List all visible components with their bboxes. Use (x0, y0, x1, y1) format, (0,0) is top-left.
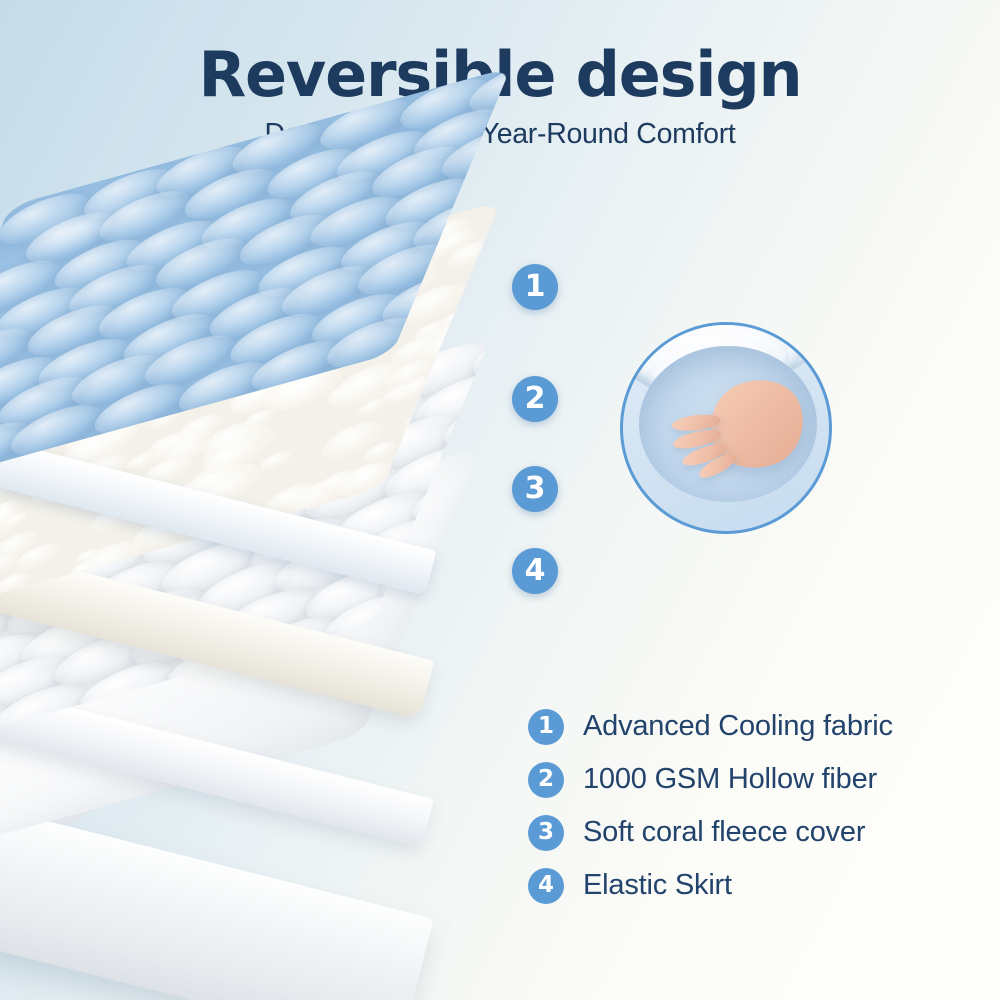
callout-badge-1: 1 (512, 264, 558, 310)
legend-label-3: Soft coral fleece cover (583, 818, 865, 847)
layer-1-cooling-fabric (0, 180, 580, 510)
header: Reversible design Double-Sided for Year-… (0, 44, 1000, 149)
legend-label-2: 1000 GSM Hollow fiber (583, 765, 877, 794)
legend-badge-1: 1 (528, 709, 564, 745)
legend-badge-3: 3 (528, 815, 564, 851)
legend-item-3: 3 Soft coral fleece cover (528, 806, 978, 859)
hand-pressing-topper-photo (620, 322, 832, 534)
legend-item-1: 1 Advanced Cooling fabric (528, 700, 978, 753)
legend-badge-2: 2 (528, 762, 564, 798)
legend-label-1: Advanced Cooling fabric (583, 712, 893, 741)
product-infographic: Reversible design Double-Sided for Year-… (0, 0, 1000, 1000)
legend-item-2: 2 1000 GSM Hollow fiber (528, 753, 978, 806)
callout-badge-3: 3 (512, 466, 558, 512)
legend-label-4: Elastic Skirt (583, 871, 732, 900)
callout-badge-4: 4 (512, 548, 558, 594)
legend-item-4: 4 Elastic Skirt (528, 859, 978, 912)
page-subtitle: Double-Sided for Year-Round Comfort (0, 120, 1000, 149)
legend-badge-4: 4 (528, 868, 564, 904)
legend: 1 Advanced Cooling fabric 2 1000 GSM Hol… (528, 700, 978, 912)
callout-badge-2: 2 (512, 376, 558, 422)
